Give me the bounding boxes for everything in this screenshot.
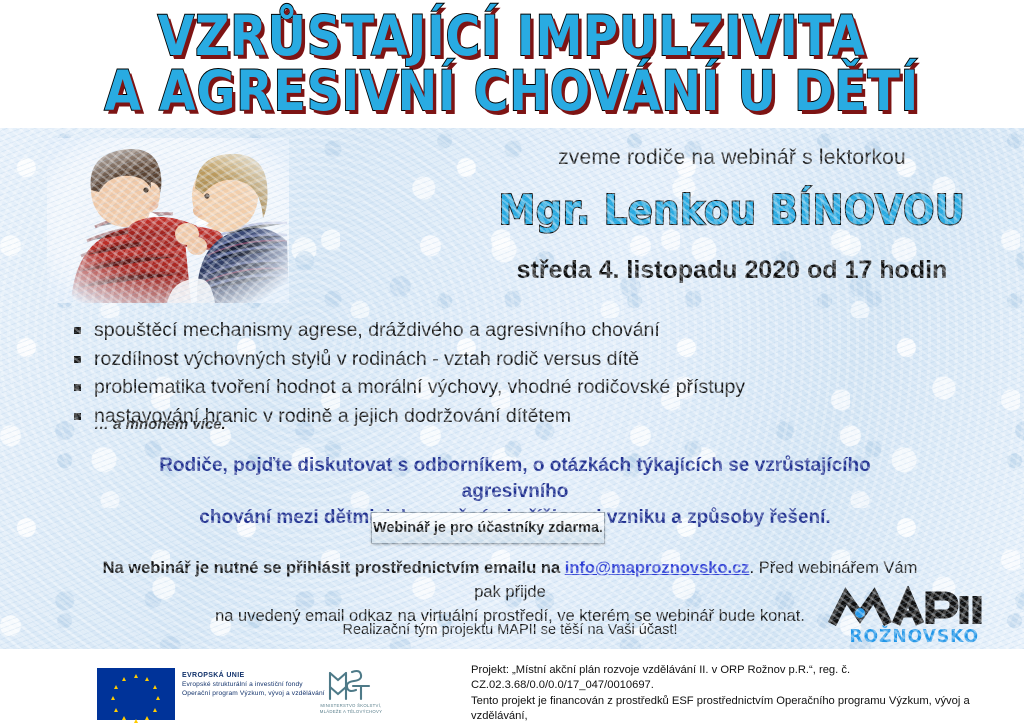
poster-main-panel: zveme rodiče na webinář s lektorkou Mgr.… [0,128,1024,649]
poster-root: VZRŮSTAJÍCÍ IMPULZIVITA A AGRESIVNÍ CHOV… [0,0,1024,724]
list-item: rozdílnost výchovných stylů v rodinách -… [70,347,950,373]
event-datetime: středa 4. listopadu 2020 od 17 hodin [440,256,1024,285]
msmt-monogram-icon [296,667,406,703]
map-ii-logo: ROŽNOVSKO [824,586,984,646]
children-fighting-photo [47,138,289,303]
list-item: spouštěcí mechanismy agrese, dráždivého … [70,318,950,344]
poster-title-band: VZRŮSTAJÍCÍ IMPULZIVITA A AGRESIVNÍ CHOV… [0,0,1024,128]
poster-title-line-1: VZRŮSTAJÍCÍ IMPULZIVITA [158,8,866,65]
poster-footer: EVROPSKÁ UNIE Evropské strukturální a in… [0,649,1024,724]
signup-bold-part: Na webinář je nutné se přihlásit prostře… [103,559,565,577]
project-funding-text: Projekt: „Místní akční plán rozvoje vzdě… [471,663,1016,724]
topics-more-note: … a mnohem více. [94,416,226,433]
project-line-1: Projekt: „Místní akční plán rozvoje vzdě… [471,663,1016,694]
project-line-2: Tento projekt je financován z prostředků… [471,694,1016,724]
free-webinar-button-label: Webinář je pro účastníky zdarma. [373,520,603,536]
list-item: problematika tvoření hodnot a morální vý… [70,375,950,401]
signup-instructions: Na webinář je nutné se přihlásit prostře… [95,556,925,628]
map-ii-subtitle: ROŽNOVSKO [849,626,979,647]
eu-flag-icon [97,668,175,720]
discussion-line-1: Rodiče, pojďte diskutovat s odborníkem, … [120,453,910,505]
topics-list: spouštěcí mechanismy agrese, dráždivého … [70,318,950,432]
invite-line: zveme rodiče na webinář s lektorkou [440,146,1024,170]
free-webinar-button[interactable]: Webinář je pro účastníky zdarma. [371,512,605,544]
msmt-subtitle-line-2: MLÁDEŽE A TĚLOVÝCHOVY [296,709,406,715]
map-ii-wordmark-icon [824,586,984,628]
signup-email-link[interactable]: info@maproznovsko.cz [565,559,750,577]
msmt-logo: MINISTERSTVO ŠKOLSTVÍ, MLÁDEŽE A TĚLOVÝC… [296,667,406,715]
closing-line: Realizační tým projektu MAPII se těší na… [95,622,925,638]
msmt-subtitle: MINISTERSTVO ŠKOLSTVÍ, MLÁDEŽE A TĚLOVÝC… [296,703,406,714]
poster-title-line-2: A AGRESIVNÍ CHOVÁNÍ U DĚTÍ [105,63,920,120]
lecturer-name: Mgr. Lenkou BÍNOVOU [469,186,995,234]
